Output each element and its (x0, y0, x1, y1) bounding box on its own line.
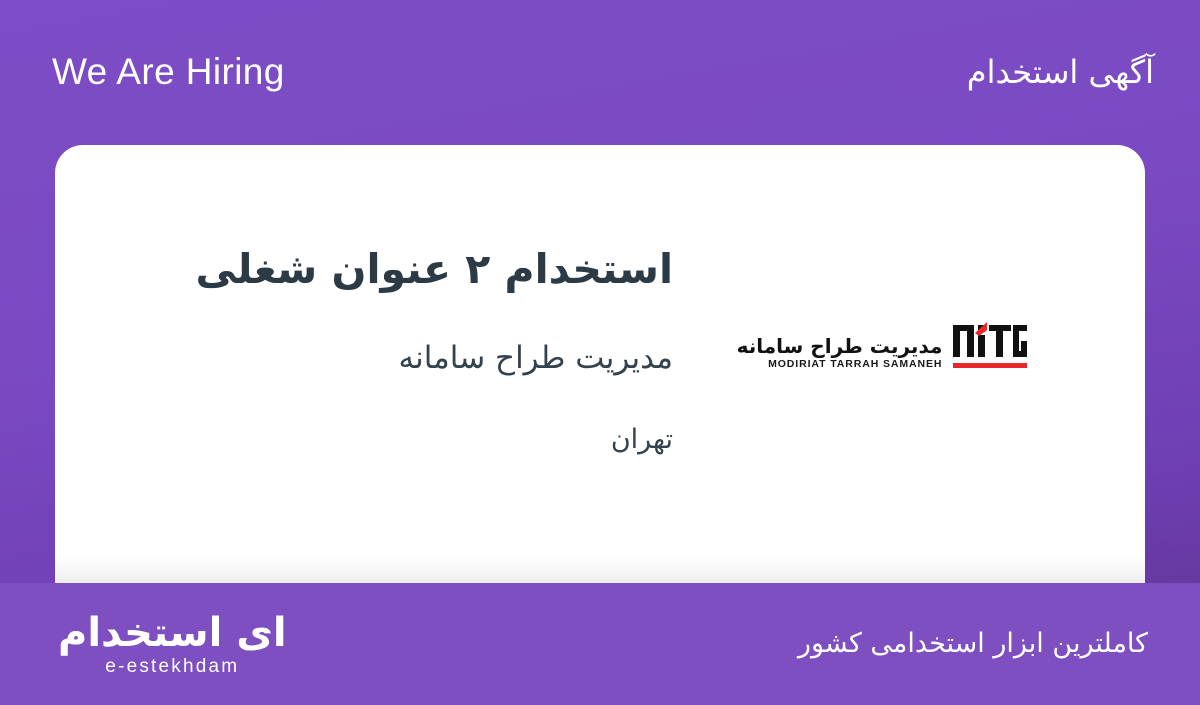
brand-name-persian: ای استخدام (58, 612, 287, 654)
footer-tagline: کاملترین ابزار استخدامی کشور (798, 624, 1170, 663)
job-details: استخدام ۲ عنوان شغلی مدیریت طراح سامانه … (95, 240, 673, 459)
job-location: تهران (105, 421, 673, 459)
poster-footer: کاملترین ابزار استخدامی کشور ای استخدام … (0, 583, 1200, 705)
job-card: استخدام ۲ عنوان شغلی مدیریت طراح سامانه … (55, 145, 1145, 583)
header-title-persian: آگهی استخدام (967, 52, 1154, 94)
header-title-english: We Are Hiring (52, 52, 285, 93)
company-name: مدیریت طراح سامانه (105, 337, 673, 380)
job-card-content: استخدام ۲ عنوان شغلی مدیریت طراح سامانه … (55, 145, 1145, 583)
brand-name-english: e-estekhdam (105, 657, 239, 677)
company-logo-area: مدیریت طراح سامانه MODIRIAT TARRAH SAMAN… (673, 321, 1093, 377)
company-logo-name-persian: مدیریت طراح سامانه (737, 336, 943, 357)
job-ad-poster: آگهی استخدام We Are Hiring استخدام ۲ عنو… (0, 0, 1200, 705)
company-logo-wordmark: مدیریت طراح سامانه MODIRIAT TARRAH SAMAN… (737, 336, 943, 373)
poster-header: آگهی استخدام We Are Hiring (0, 0, 1200, 145)
mts-monogram-icon (951, 321, 1029, 373)
page-title: استخدام ۲ عنوان شغلی (105, 240, 673, 299)
company-logo: مدیریت طراح سامانه MODIRIAT TARRAH SAMAN… (737, 321, 1030, 373)
company-logo-name-english: MODIRIAT TARRAH SAMANEH (768, 359, 942, 370)
e-estekhdam-logo-icon: ای استخدام e-estekhdam (52, 612, 287, 677)
